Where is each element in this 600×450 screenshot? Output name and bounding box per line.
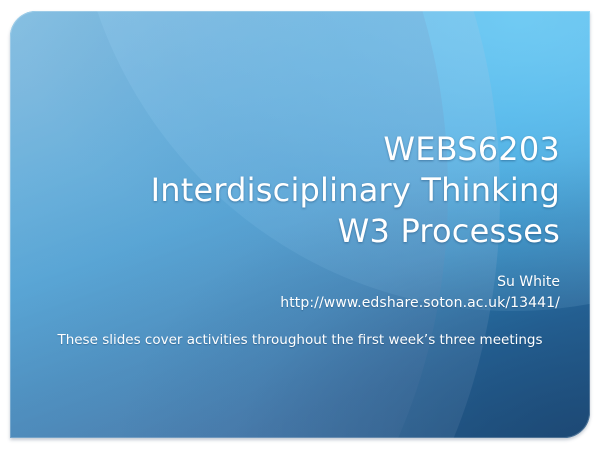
slide-content: WEBS6203 Interdisciplinary Thinking W3 P…	[10, 11, 590, 438]
title-line-course-name: Interdisciplinary Thinking	[70, 170, 560, 211]
coverage-note: These slides cover activities throughout…	[10, 331, 590, 349]
title-slide: WEBS6203 Interdisciplinary Thinking W3 P…	[10, 11, 590, 438]
title-line-course-code: WEBS6203	[70, 129, 560, 170]
author-name: Su White	[497, 273, 560, 291]
slide-title: WEBS6203 Interdisciplinary Thinking W3 P…	[70, 129, 560, 252]
title-line-week-topic: W3 Processes	[70, 211, 560, 252]
source-url-link[interactable]: http://www.edshare.soton.ac.uk/13441/	[280, 294, 560, 312]
